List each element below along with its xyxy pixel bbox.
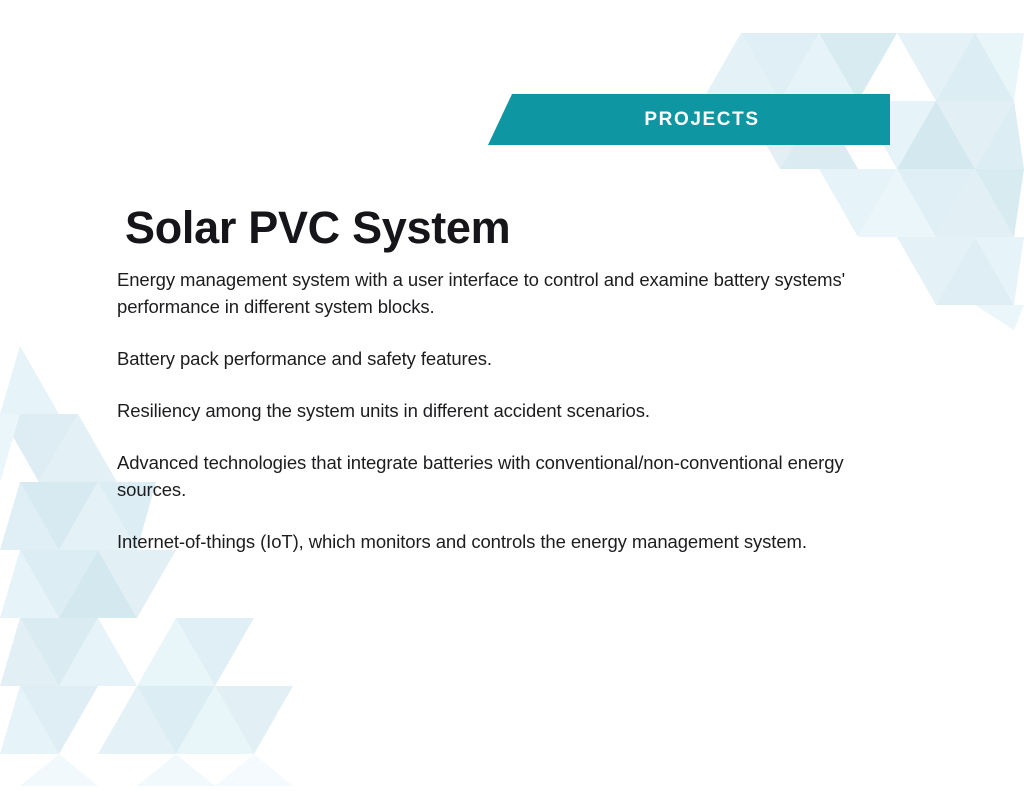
slide-canvas: PROJECTS Solar PVC System Energy managem… (0, 0, 1024, 791)
projects-banner: PROJECTS (488, 94, 890, 145)
projects-banner-label: PROJECTS (488, 94, 890, 145)
bullet-paragraph-4: Advanced technologies that integrate bat… (117, 449, 877, 503)
bullet-paragraph-1: Energy management system with a user int… (117, 266, 852, 320)
bullet-paragraph-5: Internet-of-things (IoT), which monitors… (117, 528, 907, 555)
page-title: Solar PVC System (125, 202, 510, 254)
bullet-paragraph-3: Resiliency among the system units in dif… (117, 397, 907, 424)
bullet-paragraph-2: Battery pack performance and safety feat… (117, 345, 907, 372)
body-copy: Energy management system with a user int… (117, 266, 907, 555)
